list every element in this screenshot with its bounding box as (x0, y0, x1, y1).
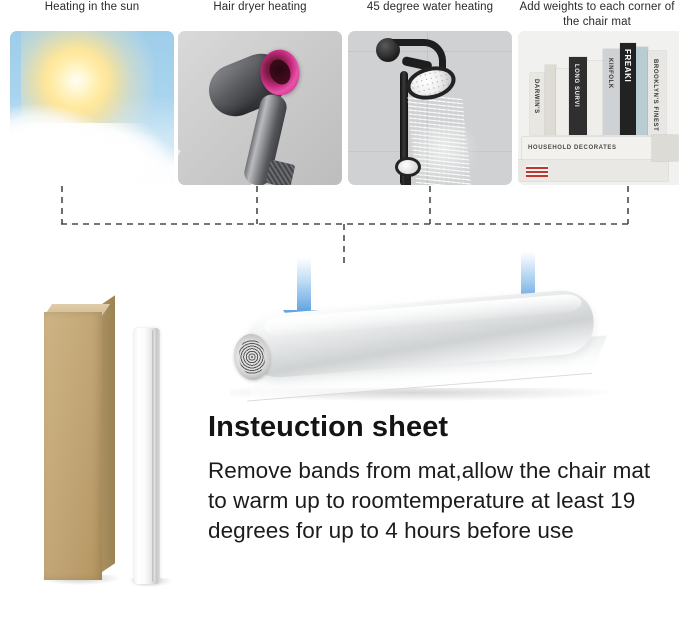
handheld-shower-head (395, 157, 421, 177)
cardboard-shipping-box (44, 312, 102, 580)
hair-dryer-photo (178, 31, 342, 185)
book-spine: LONG SURVI (569, 57, 587, 135)
water-spray-mist (408, 126, 478, 185)
book-spine: BROOKLYN'S FINEST (648, 51, 666, 135)
cloud-shape-lower (10, 123, 174, 185)
step-caption-4: Add weights to each corner of the chair … (518, 0, 676, 30)
book-spine-label: BROOKLYN'S FINEST (652, 59, 658, 131)
book-spine-label: FREAKI (623, 49, 632, 82)
carton-side-face (102, 295, 115, 572)
book-spine: DARWIN'S (530, 73, 545, 135)
book-spine (545, 65, 556, 135)
book-flat-label: HOUSEHOLD DECORATES (528, 145, 617, 151)
flag-detail (526, 165, 548, 177)
rolled-chair-mat (224, 296, 604, 398)
step-caption-3: 45 degree water heating (348, 0, 512, 15)
book-spine (636, 47, 648, 135)
dryer-grip (266, 159, 296, 185)
step-caption-2: Hair dryer heating (178, 0, 342, 15)
stack-of-books-photo: DARWIN'S LONG SURVI KINFOLK FREAKI BROOK… (518, 31, 679, 185)
book-flat (652, 135, 678, 161)
sun-in-sky-photo (10, 31, 174, 185)
shower-head-photo (348, 31, 512, 185)
tube-seam (152, 330, 155, 582)
book-spine (587, 61, 603, 135)
book-flat: HOUSEHOLD DECORATES (522, 137, 652, 161)
book-spine-label: DARWIN'S (533, 79, 539, 114)
book-spine-label: LONG SURVI (573, 64, 579, 107)
step-caption-1: Heating in the sun (10, 0, 174, 15)
book-spine (556, 69, 569, 135)
book-spine-label: KINFOLK (607, 58, 613, 89)
book-spine: FREAKI (620, 43, 636, 135)
instruction-body: Remove bands from mat,allow the chair ma… (208, 456, 672, 546)
book-spine: KINFOLK (603, 49, 620, 135)
rolled-protective-tube (134, 328, 160, 584)
instruction-title: Insteuction sheet (208, 411, 448, 444)
